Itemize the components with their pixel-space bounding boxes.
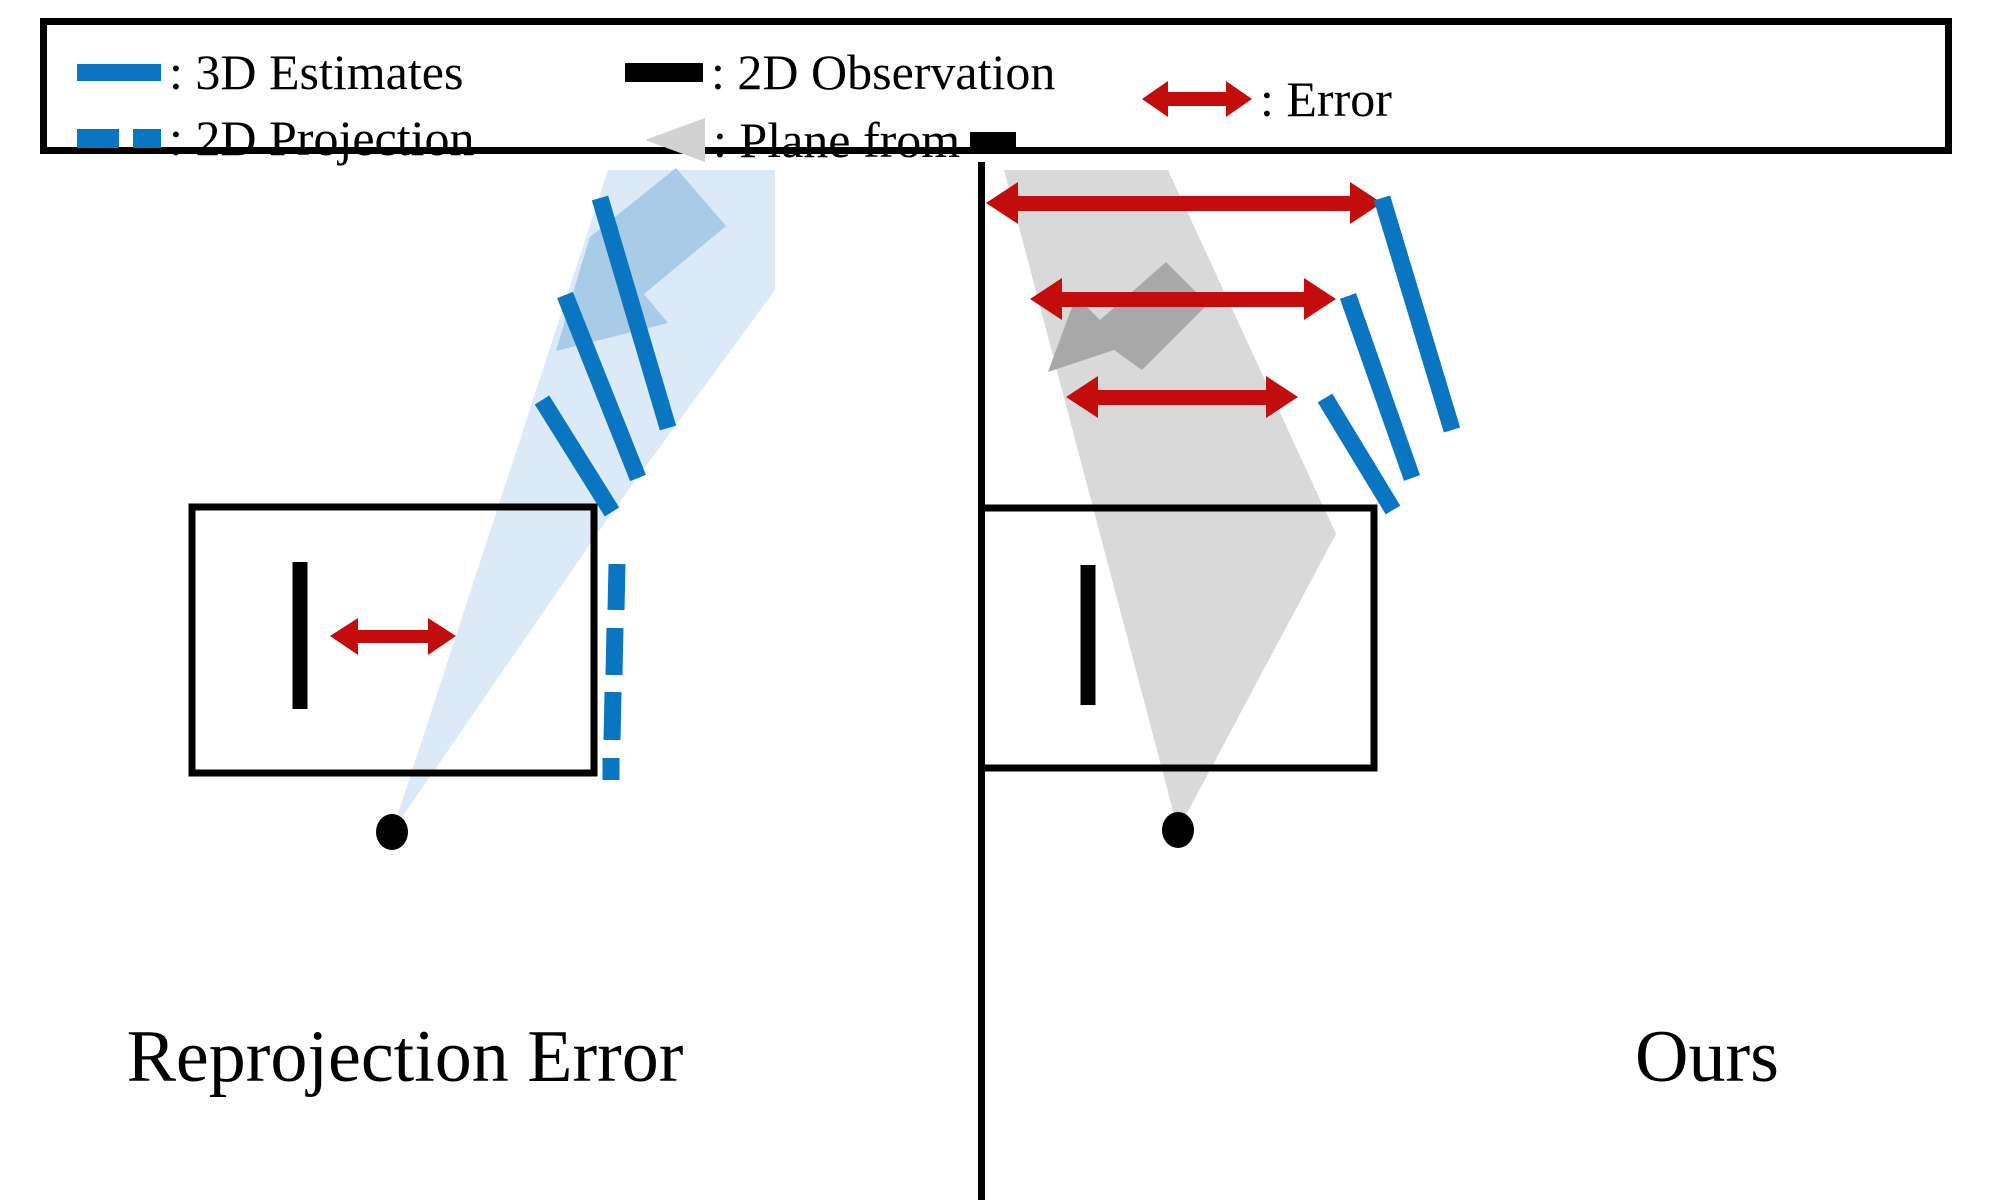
solid-blue-line-icon — [77, 64, 161, 81]
solid-black-line-icon — [625, 63, 703, 82]
legend-box: : 3D Estimates : 2D Projection : 2D Obse… — [40, 18, 1952, 154]
legend-label-error: : Error — [1260, 74, 1392, 124]
solid-black-line-icon-trailing — [970, 132, 1016, 149]
legend-entry-3d-estimates: : 3D Estimates — [77, 47, 463, 97]
panel-reprojection-error: Reprojection Error — [0, 160, 980, 1200]
gray-triangle-plane-icon — [645, 118, 705, 162]
projection-line-dashed — [611, 564, 617, 780]
panel-ours: Ours — [984, 160, 2000, 1200]
legend-label-plane-from: : Plane from — [713, 115, 960, 165]
legend-label-3d-estimates: : 3D Estimates — [169, 47, 463, 97]
legend-label-2d-observation: : 2D Observation — [711, 47, 1055, 97]
dashed-blue-line-icon — [77, 129, 161, 148]
legend-entry-plane-from: : Plane from — [645, 115, 1016, 165]
legend-entry-error: : Error — [1142, 73, 1392, 125]
red-double-arrow-icon — [1142, 73, 1252, 125]
estimate-lines-group — [1325, 198, 1452, 510]
legend-entry-2d-projection: : 2D Projection — [77, 113, 475, 163]
legend-label-2d-projection: : 2D Projection — [169, 113, 475, 163]
legend-entry-2d-observation: : 2D Observation — [625, 47, 1055, 97]
camera-center-dot — [376, 814, 408, 850]
panel-caption-right: Ours — [1199, 1020, 2000, 1094]
panel-caption-left: Reprojection Error — [0, 1020, 895, 1094]
error-arrow-1 — [330, 618, 456, 655]
figure-root: : 3D Estimates : 2D Projection : 2D Obse… — [0, 0, 2000, 1200]
camera-center-dot — [1162, 812, 1194, 848]
estimate-line-1 — [1382, 198, 1452, 430]
